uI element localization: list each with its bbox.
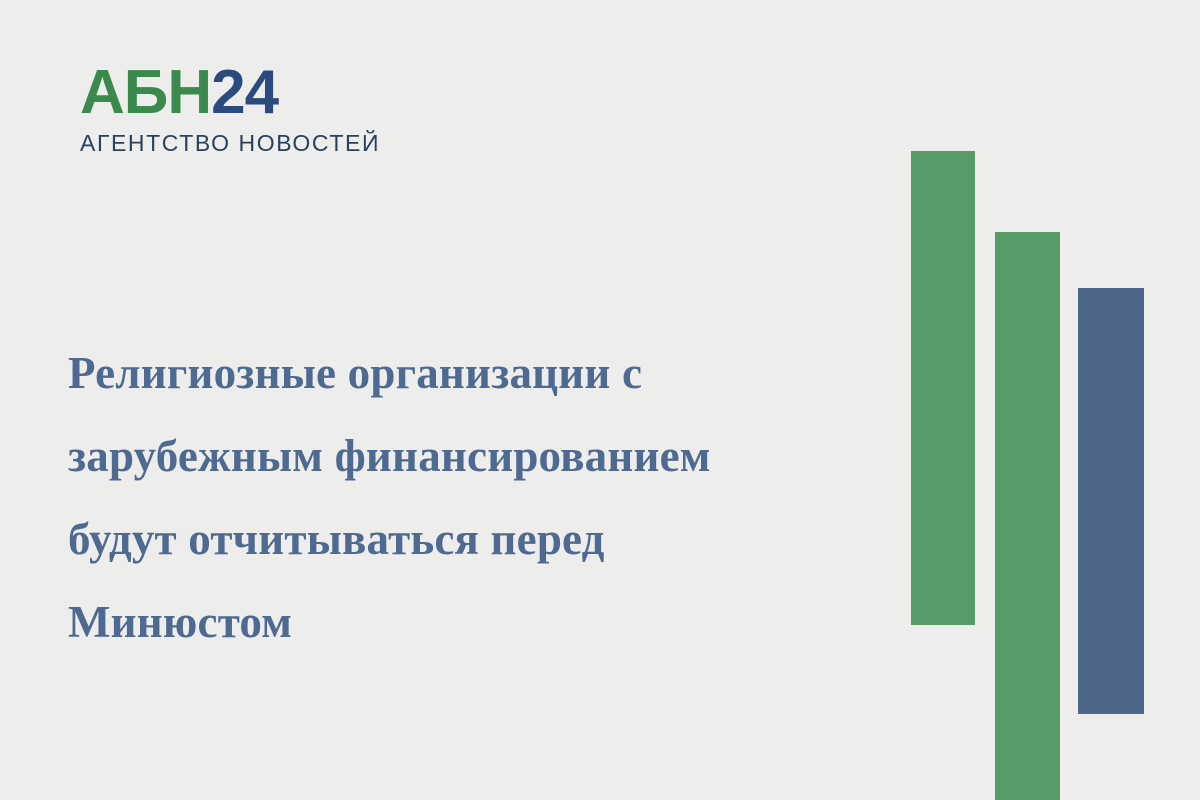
news-card: АБН24 АГЕНТСТВО НОВОСТЕЙ Религиозные орг… [0, 0, 1200, 800]
decor-bar-short-blue [1078, 288, 1144, 714]
headline-line-4: Минюстом [68, 581, 858, 664]
headline-line-3: будут отчитываться перед [68, 498, 858, 581]
logo-tagline: АГЕНТСТВО НОВОСТЕЙ [80, 130, 380, 157]
decor-bar-tall-green [911, 151, 975, 625]
logo-abn-text: АБН [80, 58, 211, 127]
decor-bar-mid-green [995, 232, 1060, 800]
headline-line-2: зарубежным финансированием [68, 415, 858, 498]
headline: Религиозные организации с зарубежным фин… [68, 332, 858, 664]
logo-24-text: 24 [211, 58, 278, 127]
headline-line-1: Религиозные организации с [68, 332, 858, 415]
logo-wordmark-icon: АБН24 [80, 62, 380, 124]
logo[interactable]: АБН24 АГЕНТСТВО НОВОСТЕЙ [80, 62, 380, 157]
